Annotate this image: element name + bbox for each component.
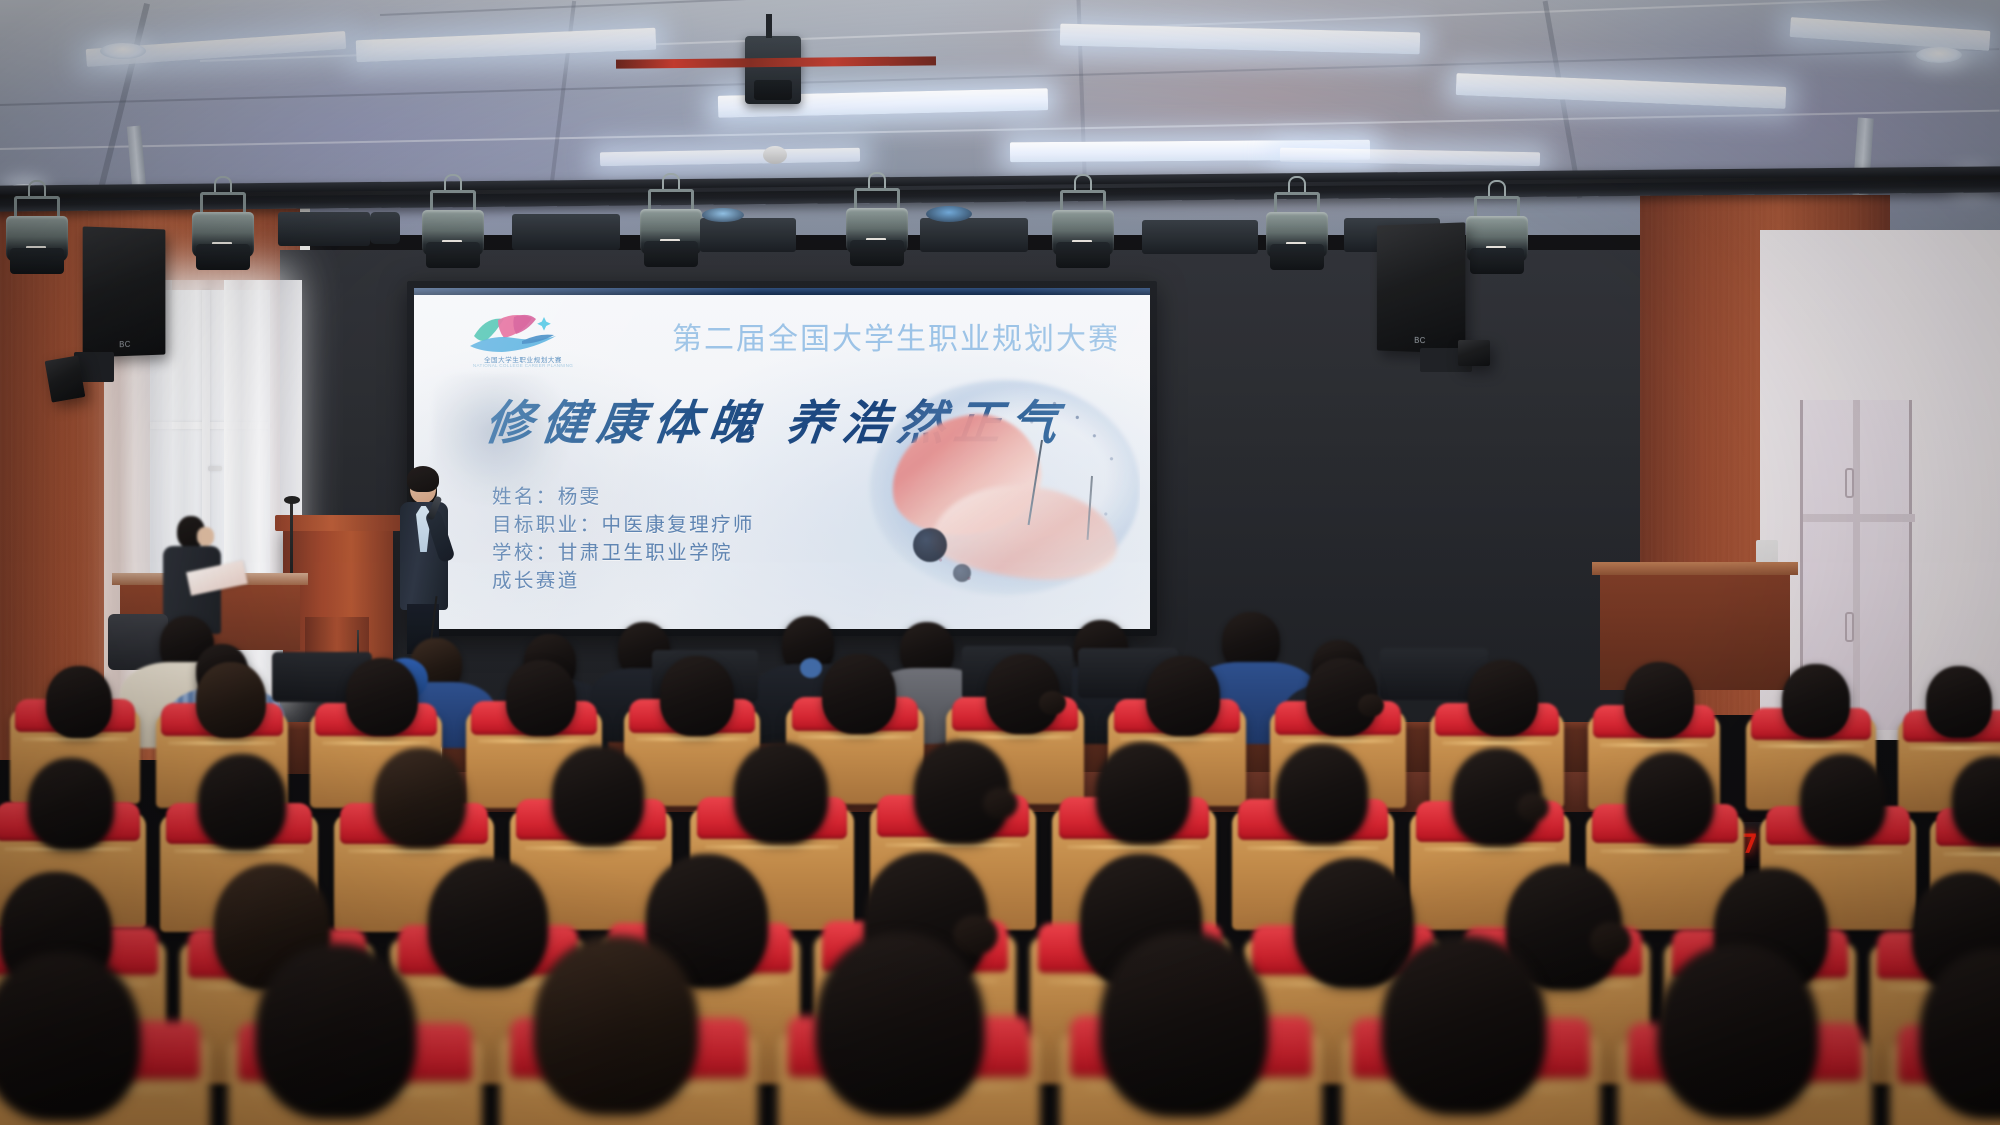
screen-top-band (414, 288, 1150, 295)
speaker-brand-mark: BC (119, 340, 131, 349)
audience-head (196, 662, 266, 738)
speaker-bracket-plate (1458, 340, 1490, 366)
light-lens (644, 241, 698, 267)
recessed-pot-light (100, 43, 146, 59)
audience-area (0, 596, 2000, 1125)
truss-fixture (512, 214, 620, 250)
projector-lens (754, 80, 792, 100)
audience-head (1146, 656, 1220, 736)
slide-detail-school: 学校：甘肃卫生职业学院 (492, 540, 755, 568)
recessed-pot-light (1916, 47, 1962, 63)
audience-head (914, 740, 1010, 844)
light-lens (196, 244, 250, 270)
ink-speckle-texture (855, 376, 1140, 606)
ceiling-projector (745, 36, 801, 104)
staff-head (177, 516, 205, 549)
audience-head (374, 748, 466, 848)
audience-head (1294, 858, 1414, 988)
audience-head (1624, 662, 1694, 738)
slide-header-title: 第二届全国大学生职业规划大赛 (672, 314, 1120, 358)
audience-head (552, 746, 644, 846)
smoke-detector-icon (763, 146, 787, 164)
audience-head (1800, 754, 1886, 846)
audience-head (1926, 666, 1992, 738)
logo-subcaption: NATIONAL COLLEGE CAREER PLANNING (470, 363, 576, 368)
speaker-brand-mark: BC (1414, 336, 1426, 345)
audience-head (1626, 752, 1714, 846)
audience-head (534, 936, 698, 1114)
slide-detail-name: 姓名：杨雯 (492, 484, 755, 512)
light-lens (1270, 244, 1324, 270)
audience-head (734, 742, 828, 844)
audience-head (822, 654, 896, 734)
audience-head (1452, 748, 1542, 846)
moving-head-lens (926, 206, 972, 222)
staff-face (197, 527, 214, 546)
audience-head (1658, 944, 1818, 1118)
presenter-hair (407, 466, 439, 492)
truss-fixture-small (370, 212, 400, 244)
logo-mark (470, 310, 570, 354)
light-lens (426, 242, 480, 268)
truss-fixture (1142, 220, 1258, 254)
audience-head (346, 658, 418, 736)
light-lens (850, 240, 904, 266)
speaker-left-lower (45, 355, 86, 402)
projection-screen-frame: 全国大学生职业规划大赛 NATIONAL COLLEGE CAREER PLAN… (407, 281, 1157, 636)
audience-head (1100, 932, 1268, 1116)
truss-fixture (278, 212, 370, 246)
moving-head-lens (702, 208, 744, 222)
podium-top-surface (275, 515, 401, 531)
light-lens (1056, 242, 1110, 268)
audience-head (46, 666, 112, 738)
audience-head (28, 758, 114, 850)
door-mullion (1803, 514, 1915, 522)
audience-head (1096, 742, 1190, 844)
truss-fixture (700, 218, 796, 252)
speaker-left-upper: BC (83, 226, 166, 357)
audience-head (198, 754, 286, 850)
audience-head (1382, 936, 1546, 1114)
audience-head (1468, 660, 1538, 736)
audience-head (1782, 664, 1850, 738)
light-lens (1470, 248, 1524, 274)
audience-head (1306, 658, 1378, 736)
projector-mount (766, 14, 772, 38)
control-console-surface (1592, 562, 1798, 575)
door-handle[interactable] (1845, 468, 1854, 498)
competition-logo: 全国大学生职业规划大赛 NATIONAL COLLEGE CAREER PLAN… (470, 310, 576, 378)
speaker-right-upper: BC (1377, 222, 1465, 353)
audience-head (428, 858, 548, 988)
audience-head (0, 952, 140, 1120)
audience-head (256, 944, 416, 1118)
slide-detail-track: 成长赛道 (492, 568, 755, 596)
audience-head (1276, 744, 1368, 844)
logo-svg (470, 310, 570, 354)
slide-detail-target-job: 目标职业：中医康复理疗师 (492, 512, 755, 540)
audience-head (660, 656, 734, 736)
presentation-slide: 全国大学生职业规划大赛 NATIONAL COLLEGE CAREER PLAN… (414, 288, 1150, 629)
acupuncture-artwork (855, 376, 1140, 606)
audience-head (506, 660, 576, 736)
hair-tie (800, 658, 822, 678)
light-lens (10, 248, 64, 274)
audience-head (816, 932, 984, 1116)
truss-fixture (920, 218, 1028, 252)
slide-detail-list: 姓名：杨雯 目标职业：中医康复理疗师 学校：甘肃卫生职业学院 成长赛道 (492, 484, 755, 596)
audience-head (986, 654, 1060, 734)
auditorium-scene: 全国大学生职业规划大赛 NATIONAL COLLEGE CAREER PLAN… (0, 0, 2000, 1125)
mic-capsule-icon (284, 496, 300, 504)
